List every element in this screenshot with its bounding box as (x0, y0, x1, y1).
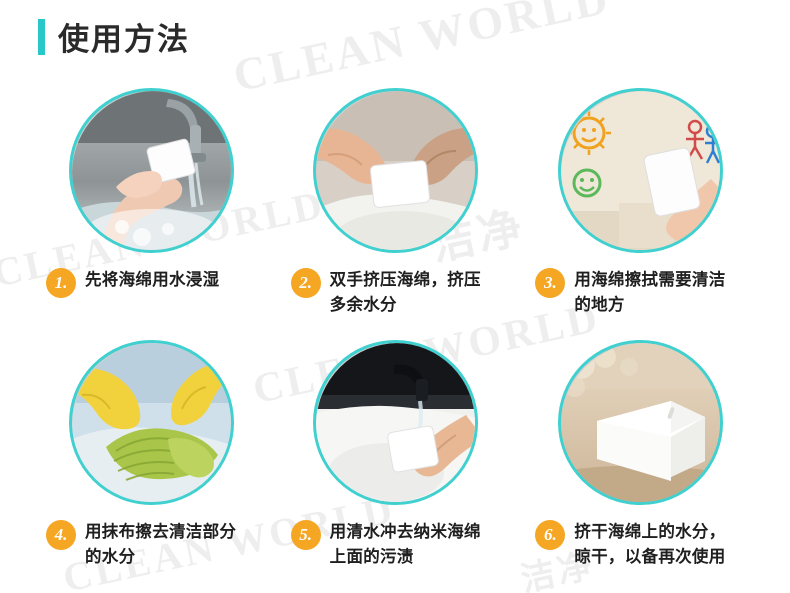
step-item: 3. 用海绵擦拭需要清洁 的地方 (525, 88, 756, 338)
step-item: 6. 挤干海绵上的水分， 晾干，以备再次使用 (525, 340, 756, 590)
step-item: 4. 用抹布擦去清洁部分 的水分 (36, 340, 267, 590)
step-image-wrap (558, 340, 723, 505)
step-image-wrap (558, 88, 723, 253)
step-number-badge: 1. (46, 268, 76, 298)
step-caption: 6. 挤干海绵上的水分， 晾干，以备再次使用 (525, 519, 756, 569)
step-text: 用海绵擦拭需要清洁 的地方 (574, 267, 725, 317)
step-image-wrap (69, 340, 234, 505)
step-text: 先将海绵用水浸湿 (85, 267, 219, 292)
step-caption: 2. 双手挤压海绵，挤压 多余水分 (281, 267, 512, 317)
steps-grid: 1. 先将海绵用水浸湿 (36, 88, 756, 590)
header-accent-bar (38, 19, 45, 55)
step-image-wrap (313, 340, 478, 505)
step-caption: 1. 先将海绵用水浸湿 (36, 267, 267, 298)
step-image-wrap (313, 88, 478, 253)
gloved-hands-with-cloth-image (69, 340, 234, 505)
step-image-wrap (69, 88, 234, 253)
step-number-badge: 3. (535, 268, 565, 298)
step-number-badge: 5. (291, 520, 321, 550)
rinsing-sponge-in-sink-image (313, 340, 478, 505)
section-header: 使用方法 (38, 14, 190, 59)
step-item: 1. 先将海绵用水浸湿 (36, 88, 267, 338)
hands-squeezing-sponge-image (313, 88, 478, 253)
step-text: 用清水冲去纳米海绵 上面的污渍 (330, 519, 481, 569)
step-caption: 4. 用抹布擦去清洁部分 的水分 (36, 519, 267, 569)
step-text: 双手挤压海绵，挤压 多余水分 (330, 267, 481, 317)
step-caption: 3. 用海绵擦拭需要清洁 的地方 (525, 267, 756, 317)
step-text: 挤干海绵上的水分， 晾干，以备再次使用 (574, 519, 725, 569)
step-caption: 5. 用清水冲去纳米海绵 上面的污渍 (281, 519, 512, 569)
step-number-badge: 2. (291, 268, 321, 298)
page-title: 使用方法 (58, 14, 190, 59)
watermark-text: CLEAN WORLD (229, 0, 615, 102)
step-number-badge: 6. (535, 520, 565, 550)
sponge-wiping-drawn-wall-image (558, 88, 723, 253)
step-item: 5. 用清水冲去纳米海绵 上面的污渍 (281, 340, 512, 590)
step-number-badge: 4. (46, 520, 76, 550)
hand-wetting-sponge-under-tap-image (69, 88, 234, 253)
step-item: 2. 双手挤压海绵，挤压 多余水分 (281, 88, 512, 338)
white-sponge-on-table-image (558, 340, 723, 505)
step-text: 用抹布擦去清洁部分 的水分 (85, 519, 236, 569)
